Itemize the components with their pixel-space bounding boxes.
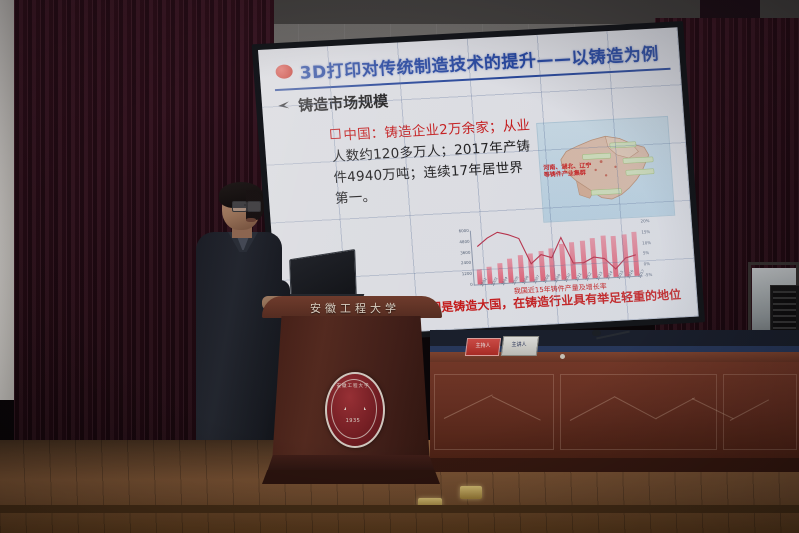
chart-y2-tick: 10%	[642, 240, 651, 245]
chart-y2-tick: 5%	[643, 251, 650, 256]
microphone-icon	[592, 330, 601, 336]
chart-y-tick: 6000	[458, 228, 469, 234]
chart-y-tick: 4800	[459, 239, 470, 245]
map-annotation: 河南、湖北、辽宁等铸件产业集群	[543, 162, 596, 179]
slide-body-text: 中国：铸造企业2万余家；从业 人数约120多万人；2017年产铸 件4940万吨…	[330, 114, 554, 210]
emblem-year: 1935	[339, 418, 367, 424]
emblem-arc-text: 安徽工程大学	[334, 383, 372, 389]
podium-plinth	[262, 470, 440, 484]
eyeglasses-icon	[232, 201, 247, 212]
table-panel	[434, 374, 554, 450]
table-base	[430, 458, 799, 472]
eyeglasses-bridge	[244, 204, 248, 206]
table-panel	[723, 374, 797, 450]
placard-red-label: 主持人	[470, 342, 496, 349]
floor-shadow	[0, 440, 300, 480]
chart-y-tick: 0	[470, 282, 473, 287]
chart-y2-tick: 20%	[640, 218, 649, 223]
rack-ports-icon	[773, 291, 796, 333]
chart-y2-tick: 15%	[641, 229, 650, 234]
chart-y-tick: 3600	[460, 249, 471, 255]
chart-y-tick: 2400	[461, 260, 472, 266]
eyeglasses-icon	[247, 201, 261, 212]
table-knob	[560, 354, 565, 359]
speaker-mouth	[246, 218, 256, 222]
chart-plot-area: 012002400360048006000 -5%0%5%10%15%20% 2…	[470, 222, 643, 286]
square-bullet-icon	[330, 129, 341, 140]
slide-subtitle: 铸造市场规模	[297, 90, 388, 116]
red-circle-bullet-icon	[275, 64, 293, 79]
table-front-panel	[430, 362, 799, 462]
presentation-scene: 3D打印对传统制造技术的提升——以铸造为例 铸造市场规模 中国：铸造企业2万余家…	[0, 0, 799, 533]
arrow-marker-icon	[278, 100, 292, 110]
chart-y-tick: 1200	[462, 271, 473, 277]
podium-nameplate: 安徽工程大学	[300, 300, 410, 316]
chart-y2-tick: -5%	[644, 272, 652, 277]
chart-y2-tick: 0%	[644, 261, 651, 266]
placard-white-label: 主讲人	[505, 341, 533, 348]
stage-edge	[0, 505, 799, 513]
floor-light-icon	[460, 486, 482, 499]
